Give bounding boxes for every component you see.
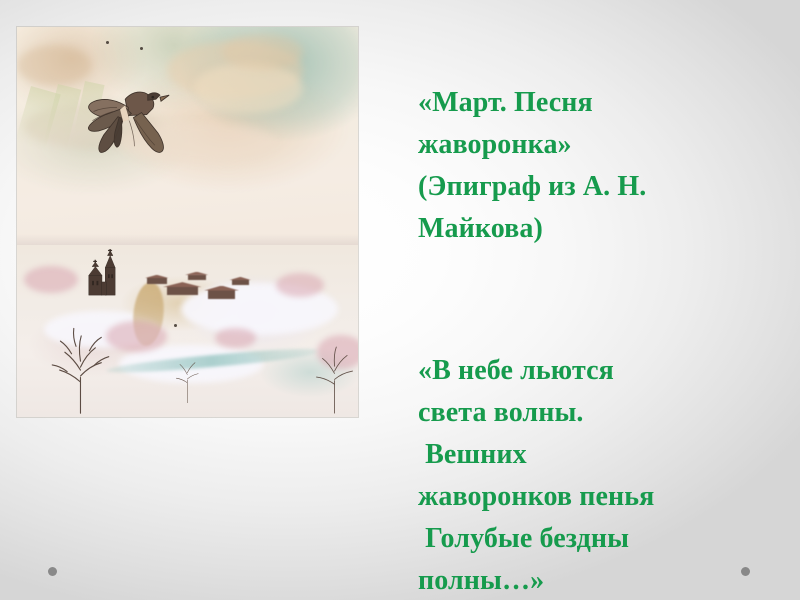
village-hut	[188, 275, 206, 280]
distant-bird-speck	[174, 324, 177, 327]
verse-line: полны…»	[418, 560, 770, 600]
village-hut	[147, 278, 167, 284]
blossom-haze	[215, 328, 256, 349]
verse-line: Голубые бездны	[418, 518, 770, 560]
bare-tree	[24, 324, 140, 413]
distant-bird-speck	[106, 41, 109, 44]
title-line: (Эпиграф из А. Н.	[418, 166, 770, 208]
cloud-shape	[222, 34, 304, 70]
verse-line: Вешних	[418, 434, 770, 476]
slide-title: «Март. Песня жаворонка» (Эпиграф из А. Н…	[418, 82, 770, 250]
village-hut	[167, 287, 198, 296]
verse-line: света волны.	[418, 392, 770, 434]
presentation-slide: «Март. Песня жаворонка» (Эпиграф из А. Н…	[0, 0, 800, 600]
verse-line: жаворонков пенья	[418, 476, 770, 518]
bare-tree	[160, 348, 215, 403]
decorative-dot-right	[741, 567, 750, 576]
title-line: жаворонка»	[418, 124, 770, 166]
bare-tree	[297, 341, 358, 413]
village-hut	[232, 280, 249, 285]
blossom-haze	[276, 273, 324, 297]
title-line: «Март. Песня	[418, 82, 770, 124]
title-line: Майкова)	[418, 208, 770, 250]
watercolor-painting	[17, 27, 358, 417]
text-column: «Март. Песня жаворонка» (Эпиграф из А. Н…	[418, 82, 770, 600]
cloud-shape	[194, 63, 303, 113]
epigraph-verse: «В небе льются света волны. Вешних жавор…	[418, 350, 770, 600]
verse-line: «В небе льются	[418, 350, 770, 392]
decorative-dot-left	[48, 567, 57, 576]
lark-bird-icon	[72, 66, 195, 171]
village-hut	[208, 290, 235, 299]
village-landscape	[17, 245, 358, 417]
distant-bird-speck	[140, 47, 143, 50]
artwork-image	[17, 27, 358, 417]
